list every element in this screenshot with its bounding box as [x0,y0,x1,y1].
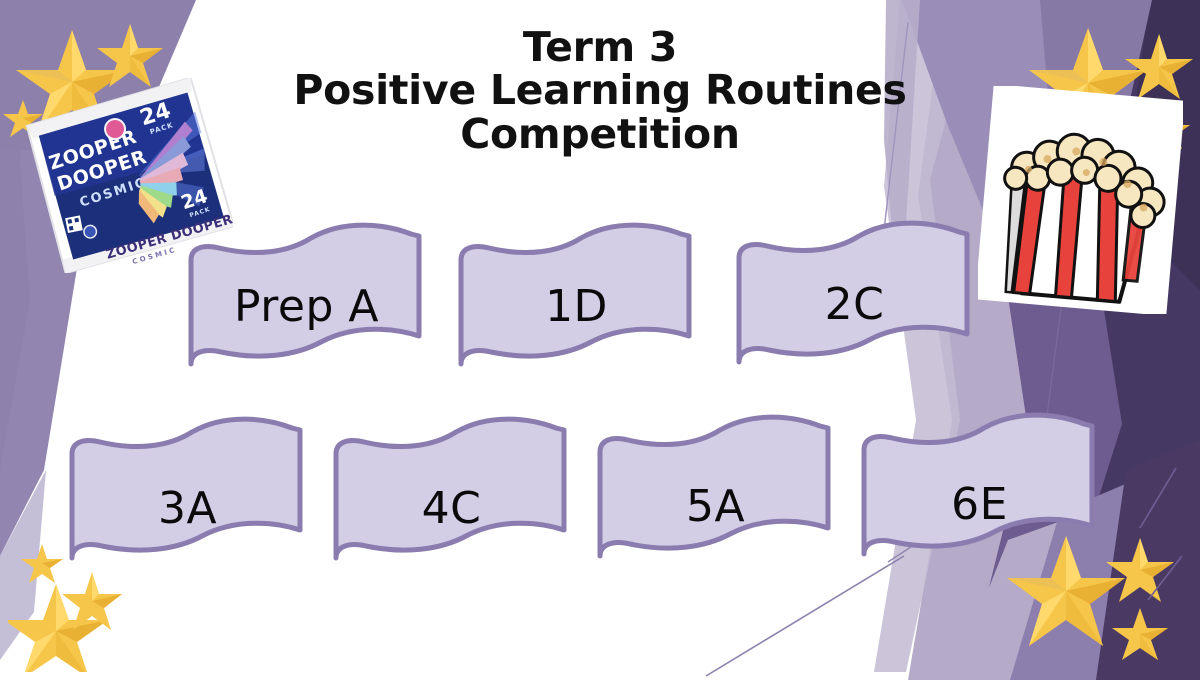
banner-5a[interactable]: 5A [594,416,837,564]
banner-shape [336,419,564,558]
star-cluster-bottom-left [8,532,168,672]
slide-canvas: Term 3 Positive Learning Routines Compet… [0,0,1200,680]
star-icon-large [1007,536,1125,646]
banner-shape [461,225,689,364]
title-line-3: Competition [250,113,950,156]
star-icon-small [21,544,63,583]
star-cluster-bottom-right [1000,520,1200,680]
banner-1d[interactable]: 1D [455,224,698,372]
zooper-dooper-image: ZOOPER DOOPER COSMIC 24 PACK [18,78,233,273]
star-icon-medium [1106,538,1174,602]
banner-shape [600,417,828,556]
title-line-1: Term 3 [250,26,950,69]
star-icon-small [1112,608,1168,660]
popcorn-image [978,86,1183,314]
banner-shape [739,223,967,362]
page-title: Term 3 Positive Learning Routines Compet… [250,26,950,156]
banner-2c[interactable]: 2C [733,222,976,370]
title-line-2: Positive Learning Routines [250,69,950,112]
zooper-qr-code [65,215,83,233]
banner-4c[interactable]: 4C [330,418,573,566]
